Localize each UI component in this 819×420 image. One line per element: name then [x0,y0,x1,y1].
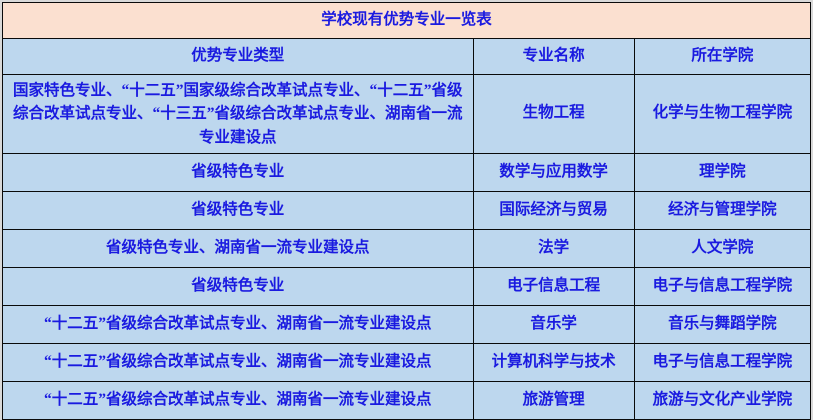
cell-college: 化学与生物工程学院 [634,75,810,154]
table-title-row: 学校现有优势专业一览表 [3,3,811,39]
table-row: “十二五”省级综合改革试点专业、湖南省一流专业建设点 音乐学 音乐与舞蹈学院 [3,305,811,343]
page-title: 学校现有优势专业一览表 [3,3,811,39]
cell-major-type: 省级特色专业、湖南省一流专业建设点 [3,229,474,267]
table-row: “十二五”省级综合改革试点专业、湖南省一流专业建设点 旅游管理 旅游与文化产业学… [3,381,811,419]
cell-major-type: 国家特色专业、“十二五”国家级综合改革试点专业、“十二五”省级综合改革试点专业、… [3,75,474,154]
cell-major-name: 数学与应用数学 [473,153,634,191]
cell-major-name: 计算机科学与技术 [473,343,634,381]
table-row: 省级特色专业 国际经济与贸易 经济与管理学院 [3,191,811,229]
cell-major-type: “十二五”省级综合改革试点专业、湖南省一流专业建设点 [3,343,474,381]
column-header-college: 所在学院 [634,39,810,75]
cell-college: 经济与管理学院 [634,191,810,229]
column-header-name: 专业名称 [473,39,634,75]
cell-major-type: “十二五”省级综合改革试点专业、湖南省一流专业建设点 [3,381,474,419]
cell-major-name: 音乐学 [473,305,634,343]
cell-major-type: 省级特色专业 [3,267,474,305]
column-header-type: 优势专业类型 [3,39,474,75]
major-table-container: 学校现有优势专业一览表 优势专业类型 专业名称 所在学院 国家特色专业、“十二五… [0,0,813,420]
advantaged-majors-table: 学校现有优势专业一览表 优势专业类型 专业名称 所在学院 国家特色专业、“十二五… [2,2,811,420]
cell-major-name: 国际经济与贸易 [473,191,634,229]
cell-major-type: “十二五”省级综合改革试点专业、湖南省一流专业建设点 [3,305,474,343]
cell-college: 音乐与舞蹈学院 [634,305,810,343]
cell-major-type: 省级特色专业 [3,153,474,191]
cell-college: 电子与信息工程学院 [634,343,810,381]
table-row: 省级特色专业、湖南省一流专业建设点 法学 人文学院 [3,229,811,267]
cell-college: 电子与信息工程学院 [634,267,810,305]
table-row: 省级特色专业 数学与应用数学 理学院 [3,153,811,191]
cell-major-name: 旅游管理 [473,381,634,419]
table-row: “十二五”省级综合改革试点专业、湖南省一流专业建设点 计算机科学与技术 电子与信… [3,343,811,381]
table-row: 省级特色专业 电子信息工程 电子与信息工程学院 [3,267,811,305]
cell-major-name: 生物工程 [473,75,634,154]
table-row: 国家特色专业、“十二五”国家级综合改革试点专业、“十二五”省级综合改革试点专业、… [3,75,811,154]
cell-major-type: 省级特色专业 [3,191,474,229]
cell-major-name: 法学 [473,229,634,267]
table-header-row: 优势专业类型 专业名称 所在学院 [3,39,811,75]
cell-college: 人文学院 [634,229,810,267]
cell-major-name: 电子信息工程 [473,267,634,305]
cell-college: 理学院 [634,153,810,191]
cell-college: 旅游与文化产业学院 [634,381,810,419]
